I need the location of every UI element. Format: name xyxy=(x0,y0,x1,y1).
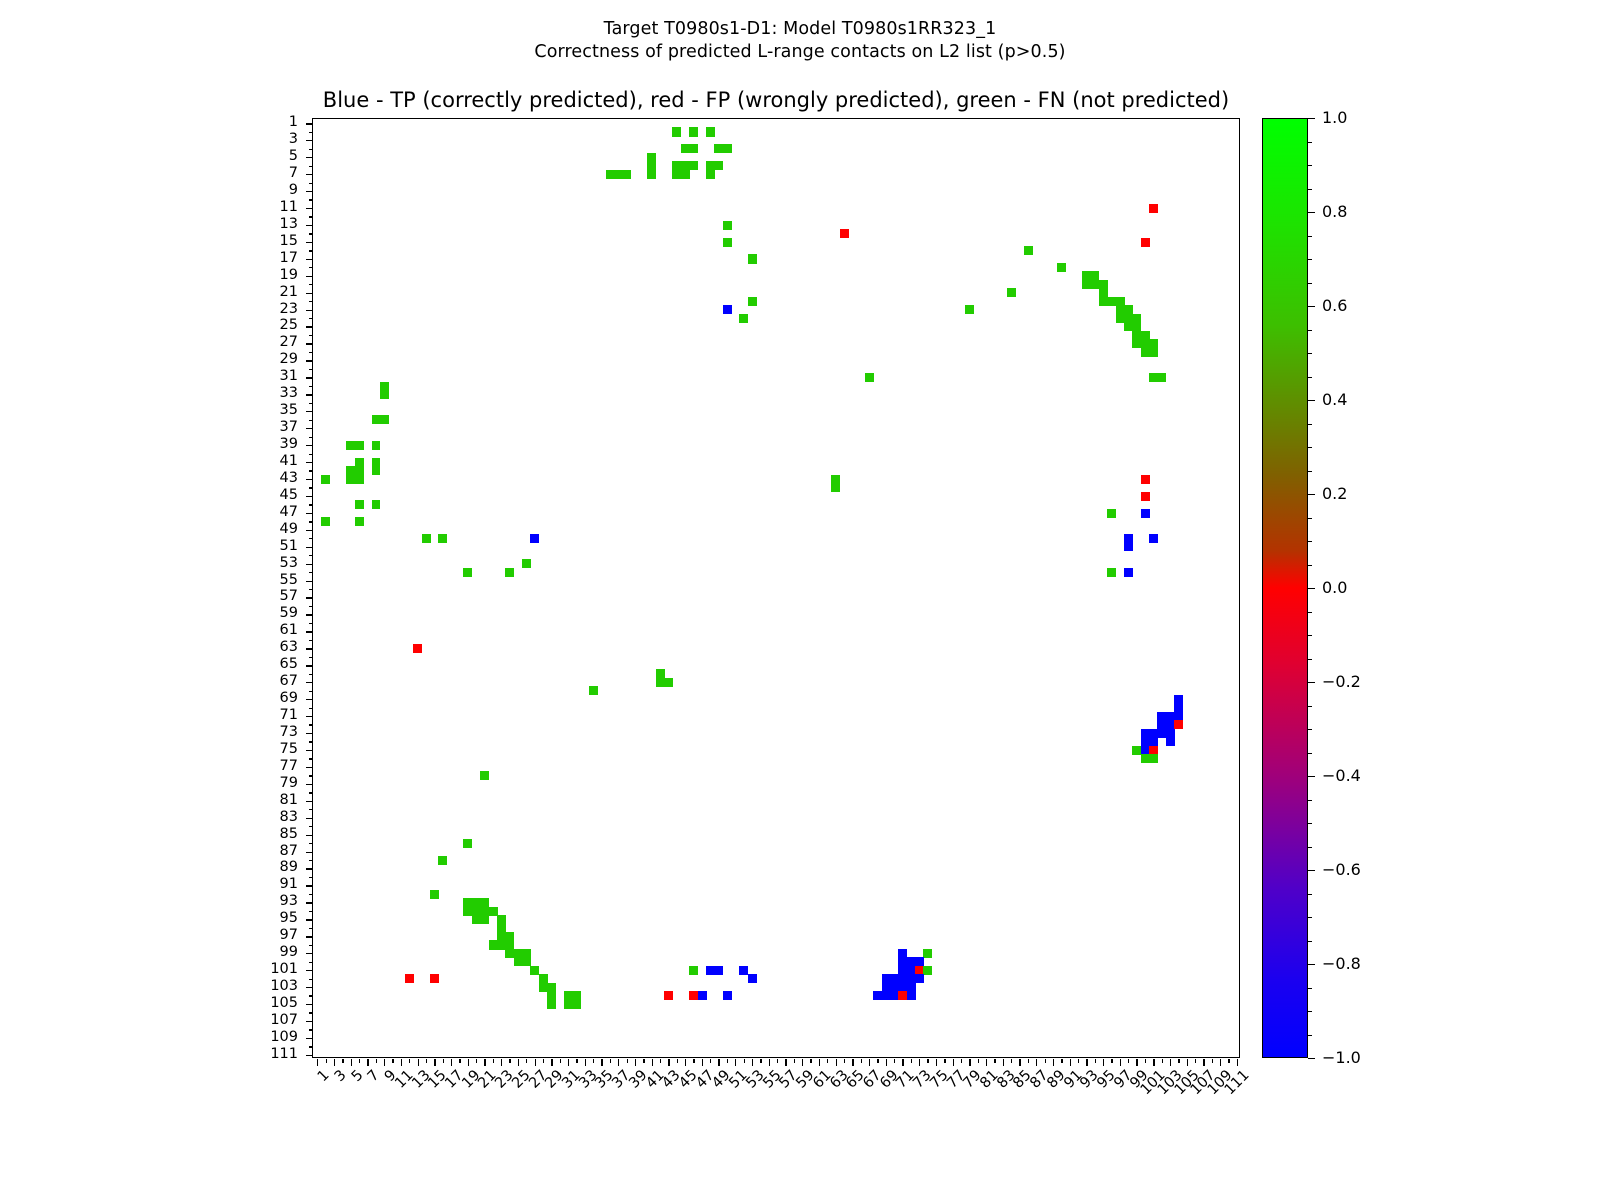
colorbar-tick-mark xyxy=(1308,776,1315,777)
fn-cell xyxy=(831,483,840,492)
y-tick-mark xyxy=(306,377,313,378)
y-tick-label: 33 xyxy=(238,386,298,401)
y-tick-mark xyxy=(309,1012,313,1013)
y-tick-mark xyxy=(306,225,313,226)
colorbar-tick-label: −0.4 xyxy=(1322,768,1361,784)
y-tick-mark xyxy=(306,293,313,294)
y-tick-mark xyxy=(309,1029,313,1030)
colorbar-tick-label: 0.2 xyxy=(1322,486,1347,502)
y-tick-mark xyxy=(306,360,313,361)
fp-cell xyxy=(1149,204,1158,213)
colorbar-tick-label: 0.8 xyxy=(1322,204,1347,220)
colorbar-minor-tick-mark xyxy=(1308,565,1312,566)
y-tick-mark xyxy=(309,420,313,421)
y-tick-mark xyxy=(306,716,313,717)
fn-cell xyxy=(664,678,673,687)
fn-cell xyxy=(1107,509,1116,518)
fn-cell xyxy=(1149,754,1158,763)
y-tick-label: 39 xyxy=(238,437,298,452)
x-axis-labels: 1357911131517192123252729313335373941434… xyxy=(312,1058,1240,1198)
fp-cell xyxy=(1141,475,1150,484)
fp-cell xyxy=(1141,492,1150,501)
colorbar-minor-tick-mark xyxy=(1308,259,1312,260)
x-tick-label: 1 xyxy=(316,1068,333,1085)
fn-cell xyxy=(1057,263,1066,272)
y-tick-mark xyxy=(306,665,313,666)
colorbar-tick-mark xyxy=(1308,306,1315,307)
colorbar-minor-tick-mark xyxy=(1308,988,1312,989)
fn-cell xyxy=(372,441,381,450)
colorbar-tick-label: −0.2 xyxy=(1322,674,1361,690)
fn-cell xyxy=(689,127,698,136)
y-tick-mark xyxy=(306,140,313,141)
y-tick-label: 107 xyxy=(238,1013,298,1028)
y-tick-mark xyxy=(309,403,313,404)
y-tick-mark xyxy=(306,547,313,548)
y-tick-mark xyxy=(306,699,313,700)
fn-cell xyxy=(572,1000,581,1009)
y-tick-mark xyxy=(309,657,313,658)
y-tick-mark xyxy=(309,233,313,234)
fn-cell xyxy=(1007,288,1016,297)
y-tick-mark xyxy=(306,750,313,751)
figure-title-block: Target T0980s1-D1: Model T0980s1RR323_1 … xyxy=(0,18,1600,64)
tp-cell xyxy=(915,974,924,983)
colorbar-tick-mark xyxy=(1308,212,1315,213)
y-tick-mark xyxy=(306,784,313,785)
y-tick-label: 31 xyxy=(238,369,298,384)
tp-cell xyxy=(530,534,539,543)
colorbar-minor-tick-mark xyxy=(1308,447,1312,448)
x-tick-label: 5 xyxy=(349,1068,366,1085)
y-tick-label: 93 xyxy=(238,894,298,909)
fn-cell xyxy=(965,305,974,314)
fn-cell xyxy=(480,771,489,780)
colorbar-gradient xyxy=(1262,118,1308,1058)
y-tick-mark xyxy=(306,123,313,124)
fn-cell xyxy=(355,517,364,526)
y-tick-mark xyxy=(309,945,313,946)
y-tick-label: 75 xyxy=(238,742,298,757)
fp-cell xyxy=(413,644,422,653)
contact-map-plot[interactable] xyxy=(312,118,1240,1058)
fn-cell xyxy=(1107,568,1116,577)
y-tick-mark xyxy=(309,589,313,590)
y-tick-label: 83 xyxy=(238,809,298,824)
y-tick-mark xyxy=(309,640,313,641)
colorbar-tick-label: 0.4 xyxy=(1322,392,1347,408)
fn-cell xyxy=(522,559,531,568)
y-tick-label: 7 xyxy=(238,166,298,181)
y-tick-mark xyxy=(306,1021,313,1022)
colorbar-minor-tick-mark xyxy=(1308,753,1312,754)
y-tick-label: 53 xyxy=(238,555,298,570)
y-tick-mark xyxy=(306,1038,313,1039)
y-tick-mark xyxy=(309,335,313,336)
y-tick-label: 47 xyxy=(238,505,298,520)
colorbar-minor-tick-mark xyxy=(1308,377,1312,378)
y-tick-mark xyxy=(309,979,313,980)
y-tick-mark xyxy=(306,394,313,395)
y-tick-mark xyxy=(309,995,313,996)
fn-cell xyxy=(355,475,364,484)
y-tick-mark xyxy=(309,538,313,539)
y-tick-mark xyxy=(309,843,313,844)
y-tick-label: 19 xyxy=(238,267,298,282)
colorbar-tick-mark xyxy=(1308,118,1315,119)
colorbar-minor-tick-mark xyxy=(1308,847,1312,848)
colorbar-minor-tick-mark xyxy=(1308,283,1312,284)
y-tick-mark xyxy=(309,724,313,725)
y-tick-mark xyxy=(306,530,313,531)
fn-cell xyxy=(422,534,431,543)
y-tick-mark xyxy=(306,462,313,463)
y-tick-mark xyxy=(306,276,313,277)
y-tick-label: 77 xyxy=(238,759,298,774)
y-tick-mark xyxy=(309,1046,313,1047)
colorbar-tick-mark xyxy=(1308,1058,1315,1059)
tp-cell xyxy=(1149,534,1158,543)
y-tick-mark xyxy=(306,411,313,412)
y-tick-mark xyxy=(309,166,313,167)
y-tick-mark xyxy=(309,487,313,488)
y-tick-label: 111 xyxy=(238,1047,298,1062)
y-tick-mark xyxy=(306,682,313,683)
y-tick-mark xyxy=(309,437,313,438)
y-tick-mark xyxy=(306,564,313,565)
y-tick-mark xyxy=(306,614,313,615)
tp-cell xyxy=(1166,737,1175,746)
fn-cell xyxy=(622,170,631,179)
y-tick-mark xyxy=(309,928,313,929)
y-tick-mark xyxy=(309,758,313,759)
colorbar-minor-tick-mark xyxy=(1308,1035,1312,1036)
fn-cell xyxy=(355,500,364,509)
y-tick-label: 71 xyxy=(238,708,298,723)
y-tick-mark xyxy=(309,775,313,776)
tp-cell xyxy=(723,991,732,1000)
y-tick-mark xyxy=(306,1055,313,1056)
y-tick-mark xyxy=(306,479,313,480)
y-axis-labels: 1357911131517192123252729313335373941434… xyxy=(0,118,312,1058)
y-tick-mark xyxy=(306,987,313,988)
y-tick-mark xyxy=(309,284,313,285)
y-tick-label: 91 xyxy=(238,877,298,892)
fn-cell xyxy=(438,534,447,543)
colorbar-tick-mark xyxy=(1308,494,1315,495)
fp-cell xyxy=(664,991,673,1000)
figure-title-line-2: Correctness of predicted L-range contact… xyxy=(0,41,1600,64)
fn-cell xyxy=(463,568,472,577)
y-tick-label: 29 xyxy=(238,352,298,367)
y-tick-label: 41 xyxy=(238,454,298,469)
y-tick-label: 59 xyxy=(238,606,298,621)
y-tick-mark xyxy=(306,953,313,954)
y-tick-label: 3 xyxy=(238,132,298,147)
y-tick-mark xyxy=(309,792,313,793)
y-tick-mark xyxy=(309,386,313,387)
tp-cell xyxy=(714,966,723,975)
fn-cell xyxy=(430,890,439,899)
colorbar-tick-label: −0.8 xyxy=(1322,956,1361,972)
y-tick-label: 63 xyxy=(238,640,298,655)
fn-cell xyxy=(689,161,698,170)
y-tick-mark xyxy=(309,250,313,251)
y-tick-mark xyxy=(306,191,313,192)
y-tick-mark xyxy=(309,149,313,150)
colorbar-minor-tick-mark xyxy=(1308,1011,1312,1012)
y-tick-mark xyxy=(306,919,313,920)
y-tick-label: 11 xyxy=(238,200,298,215)
y-tick-label: 5 xyxy=(238,149,298,164)
fn-cell xyxy=(372,466,381,475)
y-tick-mark xyxy=(309,504,313,505)
y-tick-label: 25 xyxy=(238,318,298,333)
y-tick-label: 57 xyxy=(238,589,298,604)
tp-cell xyxy=(723,305,732,314)
y-tick-mark xyxy=(306,581,313,582)
y-tick-label: 89 xyxy=(238,860,298,875)
fn-cell xyxy=(706,127,715,136)
y-tick-mark xyxy=(306,208,313,209)
colorbar-tick-mark xyxy=(1308,682,1315,683)
y-tick-label: 55 xyxy=(238,572,298,587)
y-tick-mark xyxy=(309,877,313,878)
y-tick-label: 49 xyxy=(238,521,298,536)
y-tick-mark xyxy=(306,631,313,632)
tp-cell xyxy=(748,974,757,983)
fn-cell xyxy=(689,144,698,153)
colorbar-tick-label: −0.6 xyxy=(1322,862,1361,878)
fn-cell xyxy=(706,170,715,179)
fp-cell xyxy=(430,974,439,983)
fn-cell xyxy=(321,517,330,526)
fn-cell xyxy=(1157,373,1166,382)
colorbar-tick-label: 0.0 xyxy=(1322,580,1347,596)
y-tick-mark xyxy=(306,648,313,649)
y-tick-mark xyxy=(306,868,313,869)
fn-cell xyxy=(689,966,698,975)
colorbar-minor-tick-mark xyxy=(1308,635,1312,636)
fn-cell xyxy=(547,1000,556,1009)
y-tick-mark xyxy=(309,606,313,607)
figure-title-line-1: Target T0980s1-D1: Model T0980s1RR323_1 xyxy=(0,18,1600,41)
legend-description-text: Blue - TP (correctly predicted), red - F… xyxy=(312,88,1240,112)
y-tick-label: 79 xyxy=(238,776,298,791)
y-tick-label: 65 xyxy=(238,657,298,672)
colorbar-tick-label: 1.0 xyxy=(1322,110,1347,126)
y-tick-label: 51 xyxy=(238,538,298,553)
fn-cell xyxy=(723,144,732,153)
y-tick-label: 81 xyxy=(238,792,298,807)
y-tick-label: 35 xyxy=(238,403,298,418)
colorbar-minor-tick-mark xyxy=(1308,189,1312,190)
y-tick-label: 99 xyxy=(238,945,298,960)
x-tick-label: 7 xyxy=(366,1068,383,1085)
colorbar-minor-tick-mark xyxy=(1308,800,1312,801)
y-tick-mark xyxy=(306,428,313,429)
y-tick-mark xyxy=(306,1004,313,1005)
fn-cell xyxy=(723,221,732,230)
colorbar-minor-tick-mark xyxy=(1308,706,1312,707)
colorbar-tick-label: 0.6 xyxy=(1322,298,1347,314)
colorbar-tick-label: −1.0 xyxy=(1322,1050,1361,1066)
y-tick-label: 1 xyxy=(238,115,298,130)
y-tick-label: 105 xyxy=(238,996,298,1011)
y-tick-mark xyxy=(309,199,313,200)
colorbar-minor-tick-mark xyxy=(1308,729,1312,730)
y-tick-mark xyxy=(309,962,313,963)
fn-cell xyxy=(739,314,748,323)
y-tick-mark xyxy=(306,835,313,836)
fn-cell xyxy=(748,254,757,263)
y-tick-mark xyxy=(306,818,313,819)
fp-cell xyxy=(405,974,414,983)
y-tick-label: 15 xyxy=(238,234,298,249)
y-tick-label: 67 xyxy=(238,674,298,689)
y-tick-mark xyxy=(306,513,313,514)
fp-cell xyxy=(840,229,849,238)
fn-cell xyxy=(748,297,757,306)
fn-cell xyxy=(321,475,330,484)
y-tick-mark xyxy=(306,936,313,937)
y-tick-mark xyxy=(309,369,313,370)
y-tick-mark xyxy=(309,741,313,742)
y-tick-mark xyxy=(309,132,313,133)
y-tick-label: 61 xyxy=(238,623,298,638)
y-tick-label: 9 xyxy=(238,183,298,198)
y-tick-mark xyxy=(309,521,313,522)
fn-cell xyxy=(923,966,932,975)
y-tick-mark xyxy=(306,885,313,886)
y-tick-mark xyxy=(309,555,313,556)
colorbar-tick-mark xyxy=(1308,400,1315,401)
fp-cell xyxy=(1141,238,1150,247)
fn-cell xyxy=(723,238,732,247)
fn-cell xyxy=(380,390,389,399)
y-tick-label: 17 xyxy=(238,250,298,265)
y-tick-mark xyxy=(306,902,313,903)
y-tick-mark xyxy=(306,445,313,446)
colorbar-minor-tick-mark xyxy=(1308,330,1312,331)
y-tick-label: 95 xyxy=(238,911,298,926)
y-tick-mark xyxy=(309,572,313,573)
y-tick-mark xyxy=(306,496,313,497)
colorbar-minor-tick-mark xyxy=(1308,941,1312,942)
x-tick-label: 3 xyxy=(332,1068,349,1085)
colorbar-minor-tick-mark xyxy=(1308,917,1312,918)
y-tick-mark xyxy=(306,174,313,175)
colorbar-tick-mark xyxy=(1308,964,1315,965)
y-tick-mark xyxy=(309,454,313,455)
colorbar: 1.00.80.60.40.20.0−0.2−0.4−0.6−0.8−1.0 xyxy=(1262,118,1308,1058)
y-tick-mark xyxy=(309,318,313,319)
y-tick-label: 85 xyxy=(238,826,298,841)
y-tick-mark xyxy=(309,216,313,217)
y-tick-mark xyxy=(309,708,313,709)
fn-cell xyxy=(672,127,681,136)
y-tick-mark xyxy=(309,674,313,675)
fn-cell xyxy=(438,856,447,865)
fn-cell xyxy=(355,441,364,450)
colorbar-minor-tick-mark xyxy=(1308,471,1312,472)
colorbar-minor-tick-mark xyxy=(1308,424,1312,425)
y-tick-mark xyxy=(309,623,313,624)
tp-cell xyxy=(1141,509,1150,518)
y-tick-mark xyxy=(309,183,313,184)
y-tick-label: 109 xyxy=(238,1030,298,1045)
colorbar-minor-tick-mark xyxy=(1308,612,1312,613)
y-tick-mark xyxy=(306,157,313,158)
y-tick-mark xyxy=(309,826,313,827)
y-tick-mark xyxy=(309,860,313,861)
colorbar-minor-tick-mark xyxy=(1308,165,1312,166)
fn-cell xyxy=(681,170,690,179)
contact-cells-layer xyxy=(313,119,1239,1057)
y-tick-label: 43 xyxy=(238,471,298,486)
fn-cell xyxy=(589,686,598,695)
fn-cell xyxy=(505,568,514,577)
y-tick-mark xyxy=(306,970,313,971)
colorbar-tick-mark xyxy=(1308,870,1315,871)
y-tick-label: 87 xyxy=(238,843,298,858)
y-tick-mark xyxy=(309,352,313,353)
fp-cell xyxy=(1174,720,1183,729)
fn-cell xyxy=(1149,348,1158,357)
colorbar-minor-tick-mark xyxy=(1308,894,1312,895)
colorbar-minor-tick-mark xyxy=(1308,659,1312,660)
y-tick-mark xyxy=(309,691,313,692)
y-tick-label: 103 xyxy=(238,979,298,994)
y-tick-label: 23 xyxy=(238,301,298,316)
y-tick-mark xyxy=(306,733,313,734)
y-tick-mark xyxy=(306,242,313,243)
y-tick-label: 37 xyxy=(238,420,298,435)
colorbar-minor-tick-mark xyxy=(1308,518,1312,519)
y-tick-label: 27 xyxy=(238,335,298,350)
fn-cell xyxy=(380,415,389,424)
y-tick-label: 73 xyxy=(238,725,298,740)
y-tick-mark xyxy=(309,809,313,810)
y-tick-label: 69 xyxy=(238,691,298,706)
y-tick-mark xyxy=(306,343,313,344)
tp-cell xyxy=(1124,568,1133,577)
y-tick-mark xyxy=(309,470,313,471)
y-tick-mark xyxy=(306,326,313,327)
y-tick-label: 13 xyxy=(238,217,298,232)
fn-cell xyxy=(714,161,723,170)
y-tick-mark xyxy=(309,911,313,912)
fn-cell xyxy=(480,915,489,924)
y-tick-mark xyxy=(306,767,313,768)
fn-cell xyxy=(865,373,874,382)
y-tick-mark xyxy=(306,801,313,802)
y-tick-mark xyxy=(309,301,313,302)
y-tick-mark xyxy=(309,267,313,268)
fn-cell xyxy=(1024,246,1033,255)
y-tick-mark xyxy=(306,259,313,260)
fn-cell xyxy=(923,949,932,958)
y-tick-mark xyxy=(306,597,313,598)
fn-cell xyxy=(647,170,656,179)
colorbar-minor-tick-mark xyxy=(1308,541,1312,542)
colorbar-tick-mark xyxy=(1308,588,1315,589)
y-tick-label: 21 xyxy=(238,284,298,299)
y-tick-mark xyxy=(306,310,313,311)
y-tick-label: 45 xyxy=(238,488,298,503)
colorbar-minor-tick-mark xyxy=(1308,353,1312,354)
y-tick-mark xyxy=(306,852,313,853)
